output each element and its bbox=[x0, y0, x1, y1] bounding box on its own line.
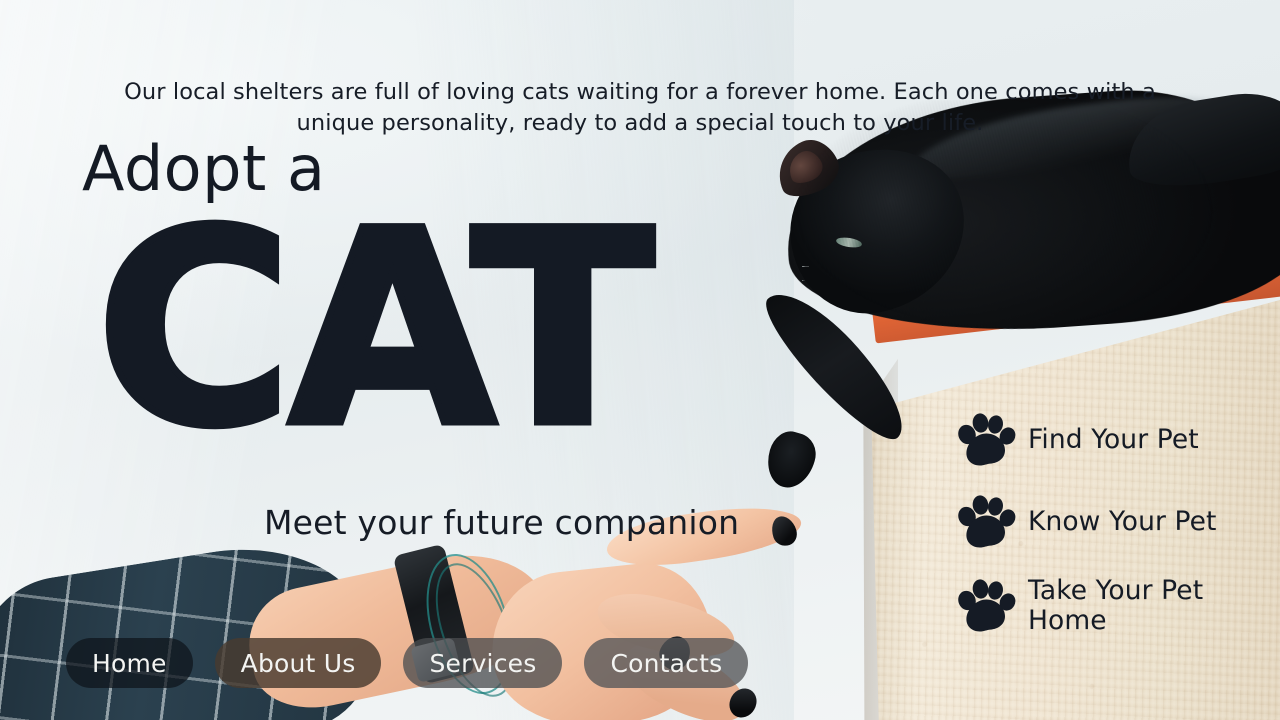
feature-list: Find Your Pet Know Your Pet bbox=[956, 412, 1256, 635]
feature-item-label: Find Your Pet bbox=[1028, 425, 1199, 455]
poster-canvas: Our local shelters are full of loving ca… bbox=[0, 0, 1280, 720]
feature-item-know-your-pet[interactable]: Know Your Pet bbox=[956, 494, 1256, 550]
page-title: CAT bbox=[96, 196, 650, 464]
feature-item-find-your-pet[interactable]: Find Your Pet bbox=[956, 412, 1256, 468]
feature-item-label: Know Your Pet bbox=[1028, 507, 1217, 537]
nav-item-about-us[interactable]: About Us bbox=[215, 638, 382, 688]
feature-item-take-your-pet-home[interactable]: Take Your Pet Home bbox=[956, 576, 1256, 635]
intro-paragraph: Our local shelters are full of loving ca… bbox=[88, 77, 1192, 141]
paw-icon bbox=[956, 578, 1016, 634]
paw-icon bbox=[956, 494, 1016, 550]
nav-item-home[interactable]: Home bbox=[66, 638, 193, 688]
paw-icon bbox=[956, 412, 1016, 468]
nav-item-contacts[interactable]: Contacts bbox=[584, 638, 748, 688]
nav-item-services[interactable]: Services bbox=[403, 638, 562, 688]
headline-subtitle: Meet your future companion bbox=[264, 506, 739, 539]
main-navigation: Home About Us Services Contacts bbox=[66, 638, 748, 688]
feature-item-label: Take Your Pet Home bbox=[1028, 576, 1256, 635]
cat-whiskers bbox=[802, 248, 914, 294]
